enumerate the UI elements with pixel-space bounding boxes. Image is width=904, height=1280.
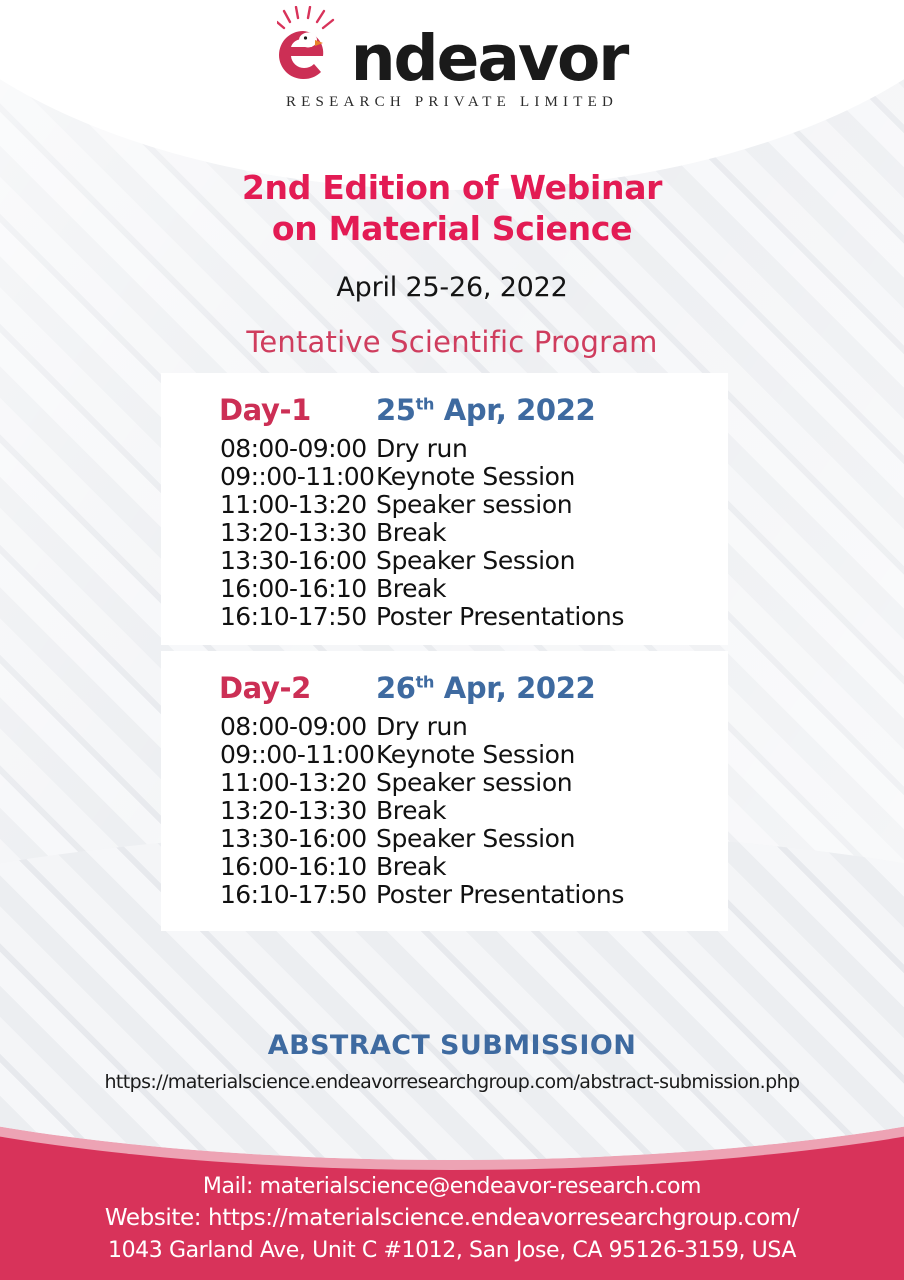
slot-title: Poster Presentations bbox=[376, 881, 624, 909]
footer-address: 1043 Garland Ave, Unit C #1012, San Jose… bbox=[0, 1235, 904, 1266]
slot-title: Break bbox=[376, 519, 446, 547]
day-date: 26th Apr, 2022 bbox=[376, 671, 595, 705]
schedule-row: 13:30-16:00 Speaker Session bbox=[161, 825, 728, 853]
slot-time: 08:00-09:00 bbox=[161, 713, 376, 741]
schedule-row: 13:20-13:30 Break bbox=[161, 519, 728, 547]
slot-time: 11:00-13:20 bbox=[161, 769, 376, 797]
footer-website[interactable]: Website: https://materialscience.endeavo… bbox=[0, 1202, 904, 1235]
day-card-header: Day-2 26th Apr, 2022 bbox=[161, 671, 728, 713]
slot-time: 16:00-16:10 bbox=[161, 853, 376, 881]
event-dates: April 25-26, 2022 bbox=[0, 272, 904, 303]
slot-time: 13:30-16:00 bbox=[161, 547, 376, 575]
day-date-number: 25 bbox=[376, 393, 416, 427]
slot-time: 13:30-16:00 bbox=[161, 825, 376, 853]
slot-title: Speaker Session bbox=[376, 547, 575, 575]
schedule-row: 09::00-11:00 Keynote Session bbox=[161, 463, 728, 491]
slot-title: Speaker session bbox=[376, 491, 572, 519]
brand-logo: ndeavor RESEARCH PRIVATE LIMITED bbox=[0, 6, 904, 111]
day-date-number: 26 bbox=[376, 671, 416, 705]
day-card-header: Day-1 25th Apr, 2022 bbox=[161, 393, 728, 435]
slot-title: Speaker session bbox=[376, 769, 572, 797]
day-date-ordinal: th bbox=[416, 672, 435, 691]
schedule-row: 13:20-13:30 Break bbox=[161, 797, 728, 825]
slot-time: 13:20-13:30 bbox=[161, 519, 376, 547]
day-date-ordinal: th bbox=[416, 394, 435, 413]
schedule-cards: Day-1 25th Apr, 2022 08:00-09:00 Dry run… bbox=[161, 373, 728, 931]
headline-block: 2nd Edition of Webinar on Material Scien… bbox=[0, 168, 904, 359]
slot-time: 09::00-11:00 bbox=[161, 463, 376, 491]
schedule-row: 11:00-13:20 Speaker session bbox=[161, 769, 728, 797]
slot-time: 11:00-13:20 bbox=[161, 491, 376, 519]
slot-title: Poster Presentations bbox=[376, 603, 624, 631]
poster-content: ndeavor RESEARCH PRIVATE LIMITED 2nd Edi… bbox=[0, 0, 904, 1280]
slot-title: Keynote Session bbox=[376, 741, 575, 769]
slot-title: Break bbox=[376, 575, 446, 603]
schedule-row: 11:00-13:20 Speaker session bbox=[161, 491, 728, 519]
endeavor-e-mark-icon bbox=[277, 6, 351, 90]
schedule-row: 16:10-17:50 Poster Presentations bbox=[161, 603, 728, 631]
schedule-row: 16:00-16:10 Break bbox=[161, 575, 728, 603]
abstract-submission-section: ABSTRACT SUBMISSION https://materialscie… bbox=[0, 1030, 904, 1093]
schedule-row: 13:30-16:00 Speaker Session bbox=[161, 547, 728, 575]
slot-title: Break bbox=[376, 797, 446, 825]
slot-title: Dry run bbox=[376, 713, 467, 741]
day-date-rest: Apr, 2022 bbox=[434, 393, 595, 427]
logo-wordmark: ndeavor bbox=[351, 27, 628, 90]
schedule-row: 16:10-17:50 Poster Presentations bbox=[161, 881, 728, 909]
program-subtitle: Tentative Scientific Program bbox=[0, 325, 904, 359]
slot-time: 16:10-17:50 bbox=[161, 603, 376, 631]
schedule-row: 09::00-11:00 Keynote Session bbox=[161, 741, 728, 769]
slot-title: Break bbox=[376, 853, 446, 881]
day-card: Day-1 25th Apr, 2022 08:00-09:00 Dry run… bbox=[161, 373, 728, 645]
abstract-submission-link[interactable]: https://materialscience.endeavorresearch… bbox=[0, 1071, 904, 1093]
day-card: Day-2 26th Apr, 2022 08:00-09:00 Dry run… bbox=[161, 651, 728, 931]
slot-time: 08:00-09:00 bbox=[161, 435, 376, 463]
abstract-submission-heading: ABSTRACT SUBMISSION bbox=[0, 1030, 904, 1061]
poster-canvas: ndeavor RESEARCH PRIVATE LIMITED 2nd Edi… bbox=[0, 0, 904, 1280]
day-date: 25th Apr, 2022 bbox=[376, 393, 595, 427]
slot-time: 16:10-17:50 bbox=[161, 881, 376, 909]
slot-time: 16:00-16:10 bbox=[161, 575, 376, 603]
slot-title: Keynote Session bbox=[376, 463, 575, 491]
schedule-row: 08:00-09:00 Dry run bbox=[161, 713, 728, 741]
page-title: 2nd Edition of Webinar on Material Scien… bbox=[0, 168, 904, 250]
page-title-line-1: 2nd Edition of Webinar bbox=[242, 168, 662, 207]
slot-time: 09::00-11:00 bbox=[161, 741, 376, 769]
slot-title: Speaker Session bbox=[376, 825, 575, 853]
page-title-line-2: on Material Science bbox=[272, 209, 632, 248]
footer-email[interactable]: Mail: materialscience@endeavor-research.… bbox=[0, 1171, 904, 1202]
slot-time: 13:20-13:30 bbox=[161, 797, 376, 825]
slot-title: Dry run bbox=[376, 435, 467, 463]
logo-tagline: RESEARCH PRIVATE LIMITED bbox=[277, 94, 628, 111]
footer-contact-block: Mail: materialscience@endeavor-research.… bbox=[0, 1171, 904, 1266]
schedule-row: 08:00-09:00 Dry run bbox=[161, 435, 728, 463]
day-label: Day-1 bbox=[161, 393, 376, 427]
schedule-row: 16:00-16:10 Break bbox=[161, 853, 728, 881]
day-label: Day-2 bbox=[161, 671, 376, 705]
day-date-rest: Apr, 2022 bbox=[434, 671, 595, 705]
